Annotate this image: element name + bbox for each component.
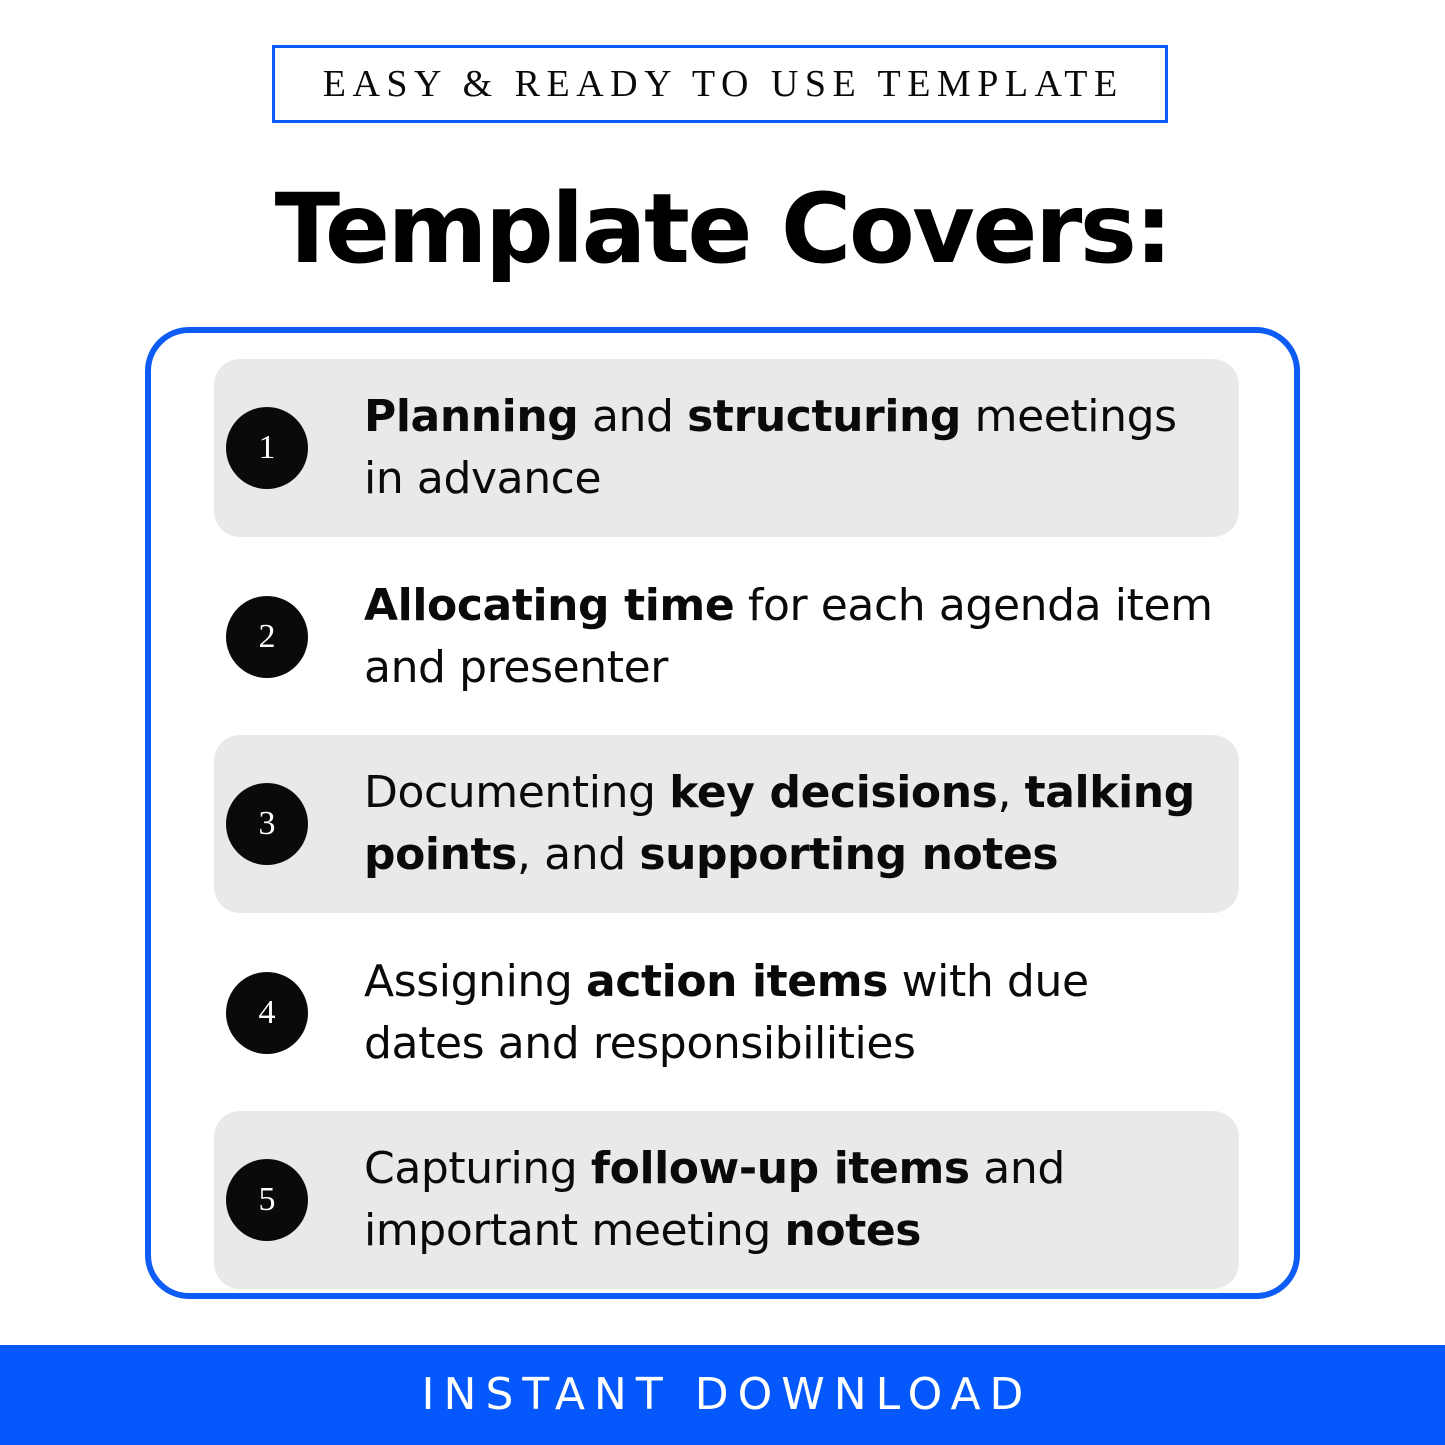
list-item-text: Allocating time for each agenda item and… xyxy=(364,575,1213,699)
list-item-number-badge: 4 xyxy=(226,972,308,1054)
page-title: Template Covers: xyxy=(0,174,1445,284)
list-item-number-badge: 5 xyxy=(226,1159,308,1241)
list-item: 1 Planning and structuring meetings in a… xyxy=(214,359,1239,537)
list-item-number-badge: 3 xyxy=(226,783,308,865)
list-item-text: Planning and structuring meetings in adv… xyxy=(364,386,1213,510)
list-item-number-badge: 2 xyxy=(226,596,308,678)
feature-list-card: 1 Planning and structuring meetings in a… xyxy=(145,327,1300,1299)
instant-download-label: INSTANT DOWNLOAD xyxy=(413,1373,1033,1417)
promo-graphic: EASY & READY TO USE TEMPLATE Template Co… xyxy=(0,0,1445,1445)
list-item-text: Documenting key decisions, talking point… xyxy=(364,762,1213,886)
list-item-text: Capturing follow-up items and important … xyxy=(364,1138,1213,1262)
list-item-text: Assigning action items with due dates an… xyxy=(364,951,1213,1075)
eyebrow-label: EASY & READY TO USE TEMPLATE xyxy=(316,65,1123,103)
list-item: 5 Capturing follow-up items and importan… xyxy=(214,1111,1239,1289)
list-item: 3 Documenting key decisions, talking poi… xyxy=(214,735,1239,913)
list-item-number-badge: 1 xyxy=(226,407,308,489)
feature-list: 1 Planning and structuring meetings in a… xyxy=(151,355,1294,1271)
list-item: 2 Allocating time for each agenda item a… xyxy=(214,551,1239,723)
eyebrow-badge: EASY & READY TO USE TEMPLATE xyxy=(272,45,1168,123)
instant-download-bar: INSTANT DOWNLOAD xyxy=(0,1345,1445,1445)
list-item: 4 Assigning action items with due dates … xyxy=(214,927,1239,1099)
